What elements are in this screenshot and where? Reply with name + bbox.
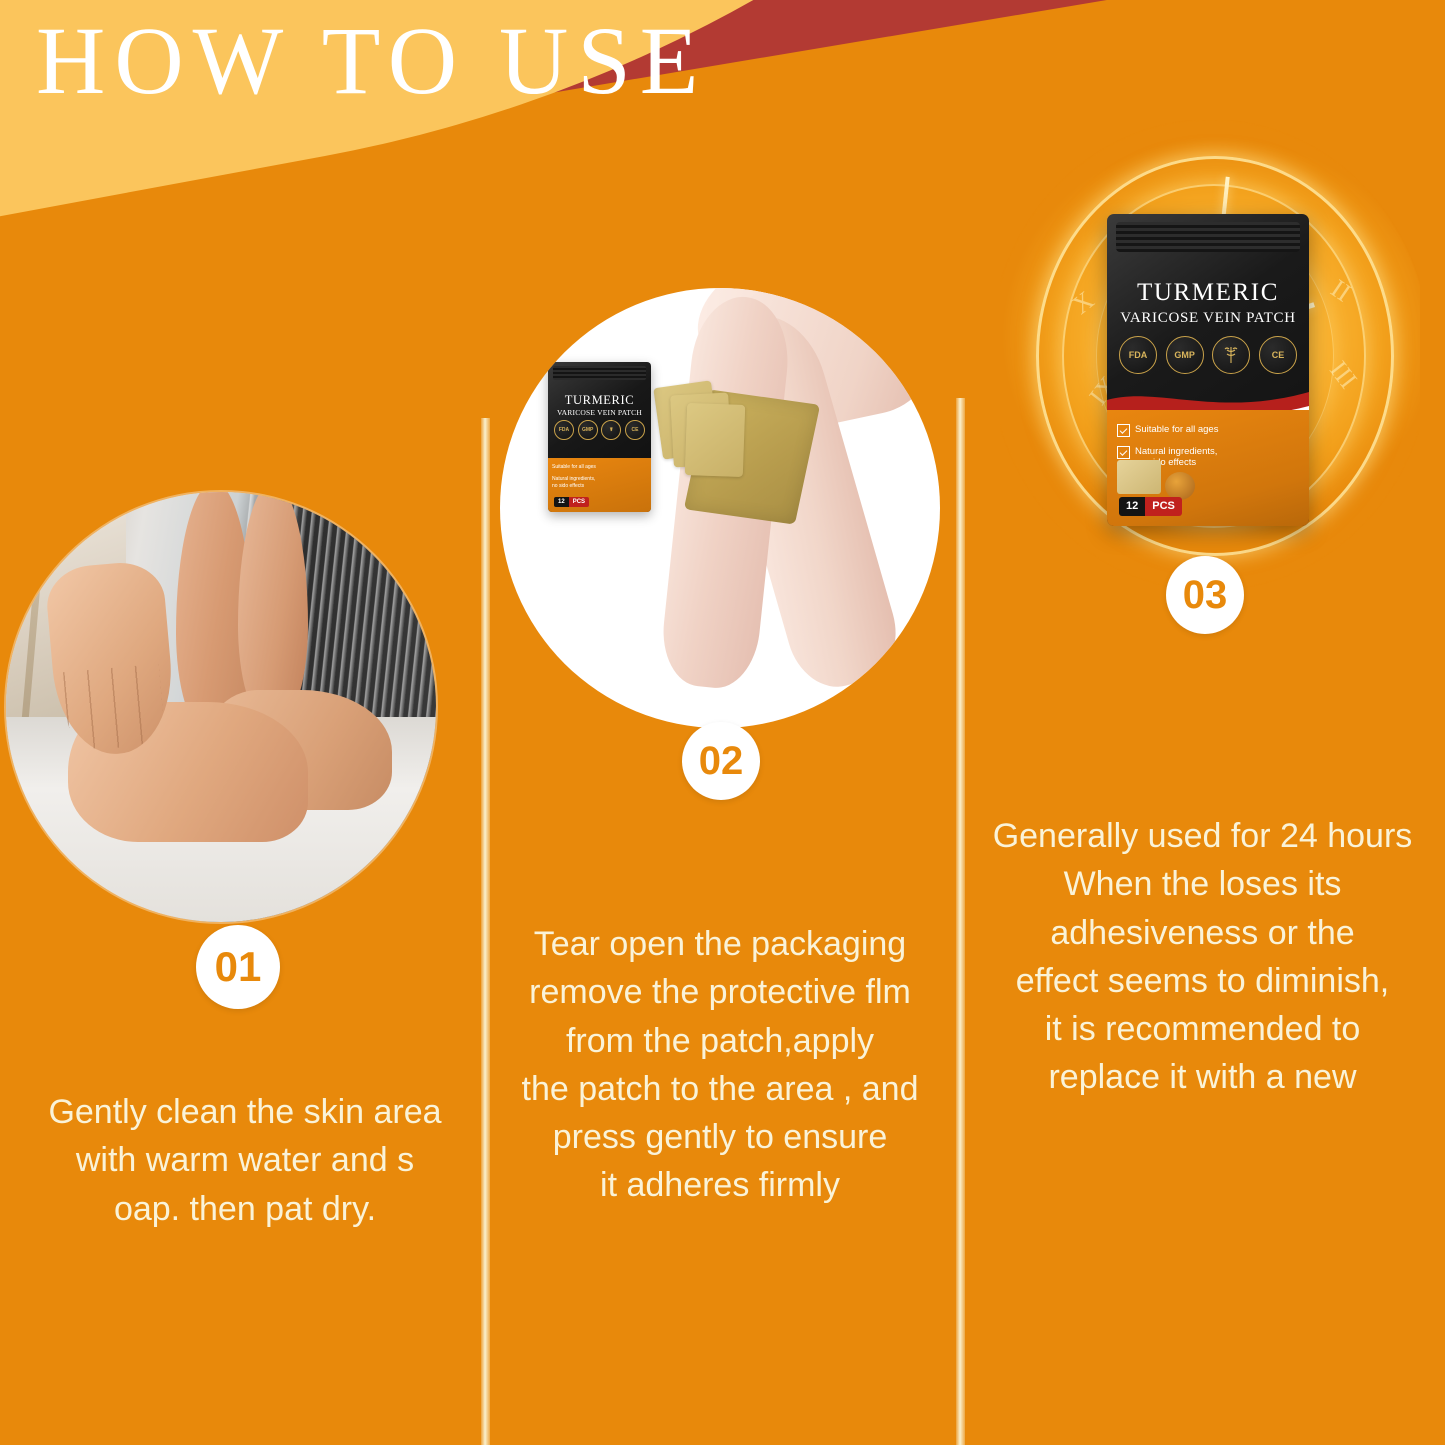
leg-right <box>238 492 308 720</box>
ce-badge-icon: CE <box>1259 336 1297 374</box>
caduceus-badge-icon: ☤ <box>601 420 621 440</box>
loose-patch <box>685 403 745 477</box>
quantity-number-small: 12 <box>554 497 569 507</box>
step-number-badge-01: 01 <box>196 925 280 1009</box>
column-divider-1 <box>481 418 490 1445</box>
step-01-description: Gently clean the skin area with warm wat… <box>10 1088 480 1233</box>
package-feature-1-label: Suitable for all ages <box>1135 424 1218 435</box>
step-01-image <box>6 492 436 922</box>
check-icon <box>1117 424 1130 437</box>
quantity-unit: PCS <box>1145 497 1182 516</box>
product-package-large: TURMERIC VARICOSE VEIN PATCH FDA GMP CE … <box>1107 214 1309 526</box>
certification-badges-small: FDA GMP ☤ CE <box>554 420 645 440</box>
package-title-small: TURMERIC <box>548 394 651 407</box>
package-feature-1: Suitable for all ages <box>1117 424 1218 437</box>
quantity-number: 12 <box>1119 497 1145 516</box>
package-zipper <box>1116 222 1300 252</box>
package-title: TURMERIC <box>1107 280 1309 305</box>
package-feature-small-2: Natural ingredients, no sido effects <box>552 476 595 489</box>
turmeric-root-graphic <box>1165 472 1195 500</box>
caduceus-badge-icon <box>1212 336 1250 374</box>
package-subtitle: VARICOSE VEIN PATCH <box>1107 311 1309 326</box>
product-package-small: TURMERIC VARICOSE VEIN PATCH FDA GMP ☤ C… <box>548 362 651 512</box>
step-02-description: Tear open the packaging remove the prote… <box>490 920 950 1210</box>
how-to-use-poster: HOW TO USE TURMERIC VARICOSE VEIN PATCH … <box>0 0 1445 1445</box>
step-number-badge-02: 02 <box>682 722 760 800</box>
column-divider-2 <box>956 398 965 1445</box>
patch-stack-graphic <box>1117 460 1161 494</box>
package-feature-small-1: Suitable for all ages <box>552 464 596 471</box>
package-quantity-small: 12 PCS <box>554 497 589 507</box>
page-title: HOW TO USE <box>36 8 707 114</box>
package-body-small: Suitable for all ages Natural ingredient… <box>548 458 651 512</box>
step-number-badge-03: 03 <box>1166 556 1244 634</box>
package-zipper <box>553 366 646 380</box>
quantity-unit-small: PCS <box>569 497 589 507</box>
fda-badge-icon: FDA <box>554 420 574 440</box>
check-icon <box>1117 446 1130 459</box>
fda-badge-icon: FDA <box>1119 336 1157 374</box>
gmp-badge-icon: GMP <box>1166 336 1204 374</box>
step-03-description: Generally used for 24 hours When the los… <box>965 812 1440 1102</box>
gmp-badge-icon: GMP <box>578 420 598 440</box>
package-quantity: 12 PCS <box>1119 497 1182 516</box>
ce-badge-icon: CE <box>625 420 645 440</box>
step-02-image: TURMERIC VARICOSE VEIN PATCH FDA GMP ☤ C… <box>500 288 940 728</box>
certification-badges: FDA GMP CE <box>1119 336 1297 374</box>
package-body: Suitable for all ages Natural ingredient… <box>1107 410 1309 526</box>
package-subtitle-small: VARICOSE VEIN PATCH <box>548 409 651 417</box>
